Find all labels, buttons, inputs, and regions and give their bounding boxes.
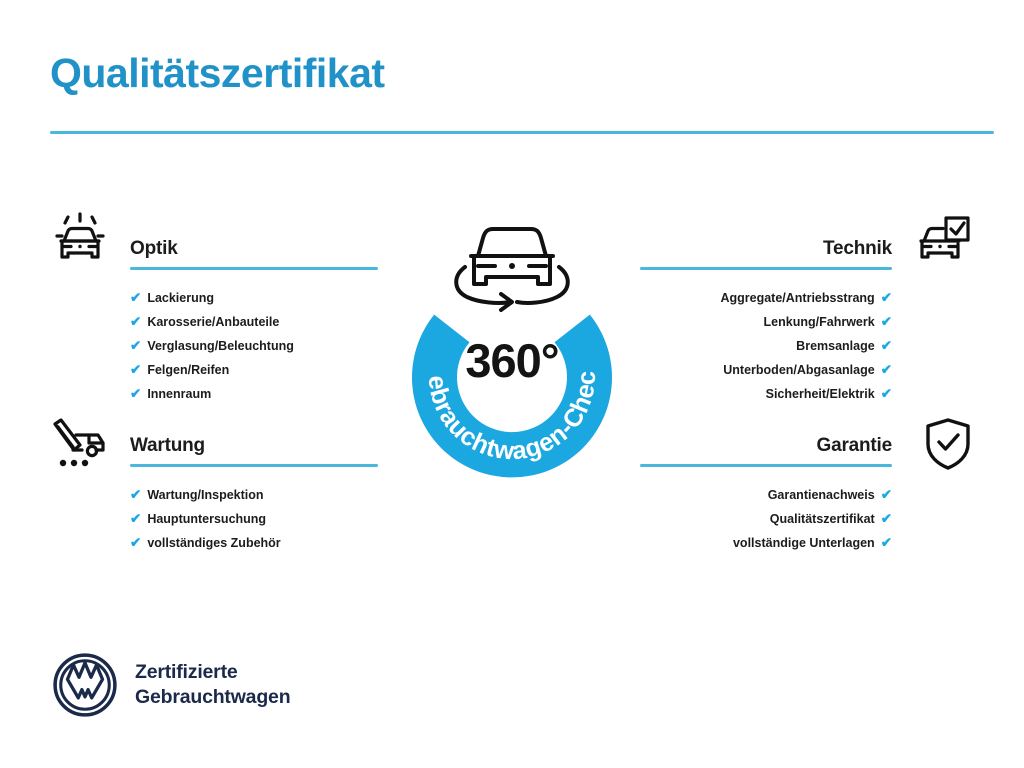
vw-logo-icon [52,652,118,718]
car-checkbox-icon [912,208,976,272]
check-icon: ✔ [130,339,141,353]
check-icon: ✔ [130,291,141,305]
list-item-label: Lackierung [147,286,214,310]
list-item: Qualitätszertifikat✔ [640,507,892,531]
section-divider-technik [640,267,892,270]
section-heading-wartung: Wartung [130,435,378,457]
check-icon: ✔ [130,488,141,502]
list-item-label: vollständige Unterlagen [733,531,875,555]
list-item-label: Innenraum [147,382,211,406]
check-icon: ✔ [881,363,892,377]
list-item-label: Karosserie/Anbauteile [147,310,279,334]
list-item: ✔Lackierung [130,286,378,310]
check-icon: ✔ [881,291,892,305]
list-item: ✔vollständiges Zubehör [130,531,378,555]
footer-line-1: Zertifizierte [135,660,290,685]
list-item: ✔Innenraum [130,382,378,406]
section-heading-garantie: Garantie [640,435,892,457]
list-item: Sicherheit/Elektrik✔ [640,382,892,406]
list-item: vollständige Unterlagen✔ [640,531,892,555]
list-item-label: Aggregate/Antriebsstrang [720,286,874,310]
checklist-optik: ✔Lackierung ✔Karosserie/Anbauteile ✔Verg… [130,286,378,406]
badge-360-check: Gebrauchtwagen-Check 360° [377,196,647,506]
check-icon: ✔ [130,387,141,401]
list-item: Garantienachweis✔ [640,483,892,507]
badge-value: 360° [377,333,647,388]
footer-brand-text: Zertifizierte Gebrauchtwagen [135,660,290,710]
list-item: Lenkung/Fahrwerk✔ [640,310,892,334]
list-item-label: Garantienachweis [768,483,875,507]
list-item: Aggregate/Antriebsstrang✔ [640,286,892,310]
section-divider-wartung [130,464,378,467]
check-icon: ✔ [881,339,892,353]
check-icon: ✔ [130,315,141,329]
section-divider-optik [130,267,378,270]
section-garantie: Garantie Garantienachweis✔ Qualitätszert… [640,435,892,555]
list-item: ✔Hauptuntersuchung [130,507,378,531]
list-item: ✔Verglasung/Beleuchtung [130,334,378,358]
check-icon: ✔ [881,488,892,502]
checklist-technik: Aggregate/Antriebsstrang✔ Lenkung/Fahrwe… [640,286,892,406]
shield-check-icon [916,412,980,476]
list-item: Unterboden/Abgasanlage✔ [640,358,892,382]
car-shine-icon [48,208,112,272]
check-icon: ✔ [881,536,892,550]
footer-brand: Zertifizierte Gebrauchtwagen [52,652,290,718]
list-item: ✔Wartung/Inspektion [130,483,378,507]
checklist-wartung: ✔Wartung/Inspektion ✔Hauptuntersuchung ✔… [130,483,378,555]
check-icon: ✔ [881,387,892,401]
list-item-label: Bremsanlage [796,334,875,358]
header-divider [50,131,994,134]
list-item: ✔Karosserie/Anbauteile [130,310,378,334]
list-item-label: Verglasung/Beleuchtung [147,334,294,358]
section-heading-optik: Optik [130,238,378,260]
list-item-label: Unterboden/Abgasanlage [723,358,874,382]
car-service-lift-icon [46,410,110,474]
list-item-label: Qualitätszertifikat [770,507,875,531]
list-item: ✔Felgen/Reifen [130,358,378,382]
list-item-label: Sicherheit/Elektrik [766,382,875,406]
check-icon: ✔ [881,512,892,526]
list-item: Bremsanlage✔ [640,334,892,358]
list-item-label: Wartung/Inspektion [147,483,263,507]
section-wartung: Wartung ✔Wartung/Inspektion ✔Hauptunters… [130,435,378,555]
check-icon: ✔ [130,512,141,526]
section-optik: Optik ✔Lackierung ✔Karosserie/Anbauteile… [130,238,378,406]
list-item-label: Lenkung/Fahrwerk [764,310,875,334]
section-heading-technik: Technik [640,238,892,260]
list-item-label: vollständiges Zubehör [147,531,280,555]
check-icon: ✔ [130,363,141,377]
checklist-garantie: Garantienachweis✔ Qualitätszertifikat✔ v… [640,483,892,555]
section-technik: Technik Aggregate/Antriebsstrang✔ Lenkun… [640,238,892,406]
page-title: Qualitätszertifikat [50,52,385,95]
list-item-label: Felgen/Reifen [147,358,229,382]
list-item-label: Hauptuntersuchung [147,507,266,531]
badge-ring-label: Gebrauchtwagen-Check [377,196,601,466]
check-icon: ✔ [130,536,141,550]
check-icon: ✔ [881,315,892,329]
section-divider-garantie [640,464,892,467]
footer-line-2: Gebrauchtwagen [135,685,290,710]
car-rotate-360-icon [456,229,568,310]
